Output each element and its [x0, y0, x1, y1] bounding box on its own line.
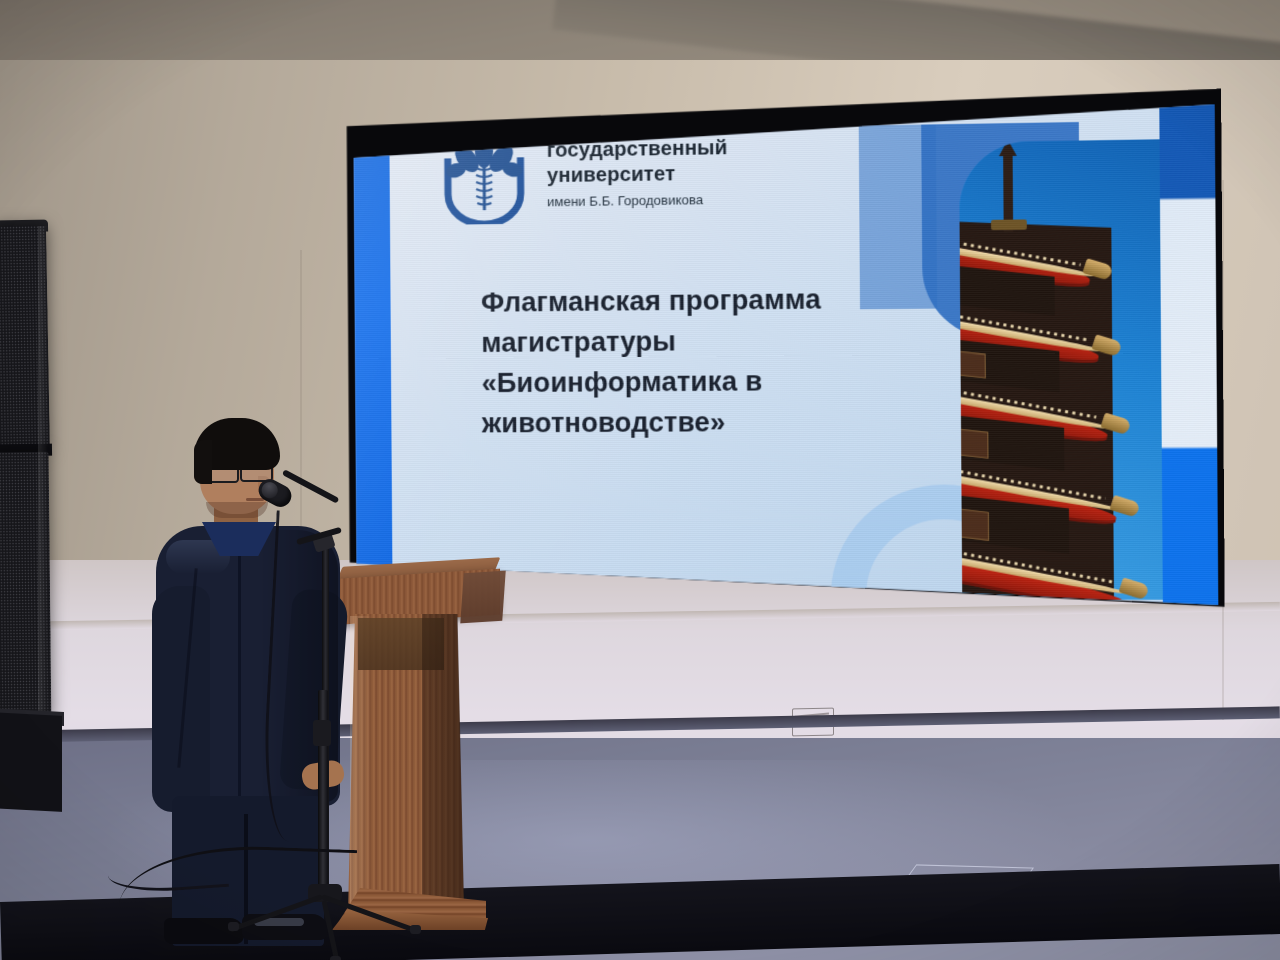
screen-display-area: Калмыцкий государственный университет им… — [349, 99, 1218, 629]
mic-tripod-foot — [228, 922, 239, 931]
presenter-jaw-shadow — [206, 502, 268, 518]
presenter-sideburn — [194, 440, 212, 484]
photo-scene: Калмыцкий государственный университет им… — [0, 0, 1280, 960]
slide-title-line-4: животноводстве» — [482, 401, 913, 444]
mic-stand-height-clamp — [313, 720, 331, 746]
slide-title-line-3: «Биоинформатика в — [481, 360, 912, 403]
loudspeaker-base — [0, 712, 62, 812]
presentation-slide: Калмыцкий государственный университет им… — [349, 99, 1218, 629]
lectern-shadow-side — [422, 614, 470, 914]
pagoda-photograph — [959, 139, 1163, 599]
pagoda-window-2 — [959, 349, 986, 379]
loudspeaker-highlight — [38, 226, 48, 722]
university-name-subtitle: имени Б.Б. Городовикова — [547, 189, 855, 211]
slide-title: Флагманская программа магистратуры «Биои… — [481, 278, 913, 443]
presenter-jacket-zipper — [238, 548, 241, 798]
mic-tripod-foot — [410, 925, 421, 934]
led-video-wall: Калмыцкий государственный университет им… — [343, 89, 1225, 637]
pagoda-finial — [991, 219, 1027, 230]
slide-title-line-2: магистратуры — [481, 319, 912, 363]
pagoda-window-3 — [959, 426, 989, 458]
slide-right-accent-strip — [1159, 99, 1218, 629]
university-name-line2: университет — [547, 159, 855, 189]
lectern-top-side — [460, 571, 505, 624]
presenter-left-arm — [152, 586, 210, 812]
pagoda-window-4 — [959, 506, 989, 541]
slide-title-line-1: Флагманская программа — [481, 278, 912, 323]
mic-tripod-foot — [330, 956, 341, 960]
